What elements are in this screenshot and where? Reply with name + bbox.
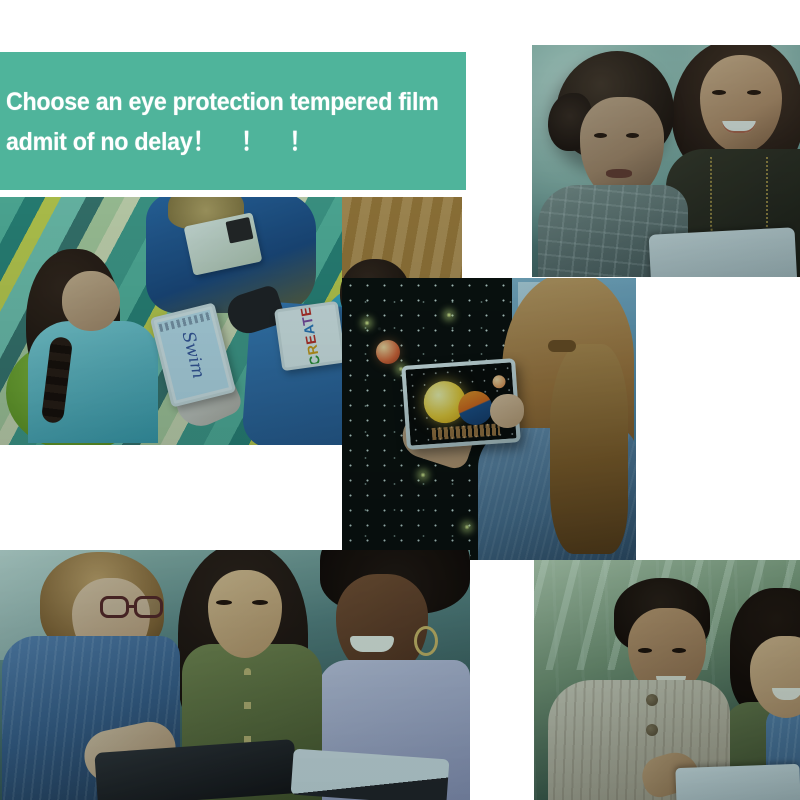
teal-color-tint: [532, 45, 800, 277]
photo-boy-and-girl-outdoors-with-tablet: [534, 560, 800, 800]
teal-color-tint: [0, 550, 470, 800]
headline-exclamation-marks: ！ ！ ！: [192, 128, 321, 156]
photo-girl-with-ar-solar-system: [342, 278, 636, 560]
teal-color-tint: [342, 278, 636, 560]
product-banner-page: Choose an eye protection tempered film a…: [0, 0, 800, 800]
headline-line-2: admit of no delay！ ！ ！: [6, 122, 421, 162]
headline-banner: Choose an eye protection tempered film a…: [0, 52, 466, 190]
teal-color-tint: [534, 560, 800, 800]
photo-two-girls-and-woman-with-tablet: [0, 550, 470, 800]
headline-line-2-text: admit of no delay: [6, 128, 192, 156]
photo-boy-and-woman-with-tablet: [532, 45, 800, 277]
headline-line-1: Choose an eye protection tempered film: [6, 82, 421, 122]
